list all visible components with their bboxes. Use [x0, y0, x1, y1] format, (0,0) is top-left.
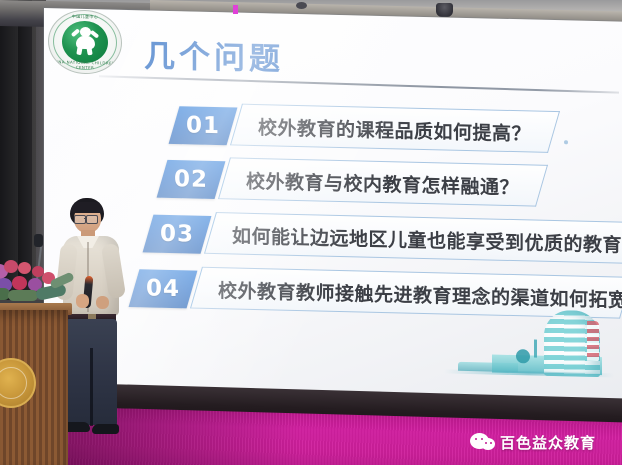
building-antenna-icon: [534, 340, 537, 358]
flower: [18, 262, 31, 274]
title-divider: [99, 75, 619, 93]
wechat-icon: [470, 433, 494, 452]
presenter-shoe-right: [92, 424, 119, 434]
presenter-hand-right: [96, 296, 109, 309]
podium-microphone-icon: [34, 234, 43, 247]
question-number-badge: 02: [157, 160, 226, 199]
presenter-hair-fringe: [71, 202, 103, 213]
flower: [4, 260, 18, 273]
logo-ring-text-bottom: CHINA NATIONAL CHILDREN'S CENTER: [49, 59, 121, 71]
question-text: 校外教育的课程品质如何提高？: [258, 108, 531, 154]
watermark: 百色益众教育: [470, 432, 596, 453]
glasses-lens-left-icon: [74, 215, 86, 224]
question-number-label: 03: [148, 214, 206, 253]
flower-arrangement: [0, 258, 80, 316]
podium-emblem-inner-ring: [0, 367, 27, 399]
building-tower-accent-icon: [587, 321, 599, 361]
ceiling-light-icon: [296, 2, 307, 9]
glasses-lens-right-icon: [86, 215, 98, 224]
question-number-badge: 04: [129, 269, 198, 308]
question-text: 如何能让边远地区儿童也能享受到优质的教育服务: [232, 216, 622, 266]
page-title: 几个问题: [144, 30, 284, 78]
left-wall-shadow-stripe: [18, 0, 32, 300]
question-number-badge: 01: [169, 106, 238, 145]
organization-logo: 中国儿童中心 CHINA NATIONAL CHILDREN'S CENTER: [48, 9, 122, 75]
question-text: 校外教育与校内教育怎样融通？: [246, 162, 519, 208]
glasses-bridge: [84, 218, 87, 219]
watermark-text: 百色益众教育: [500, 432, 596, 453]
building-dome-icon: [516, 349, 530, 363]
question-number-label: 04: [134, 269, 192, 308]
flower: [12, 276, 27, 290]
question-number-label: 02: [162, 160, 220, 199]
foliage: [8, 290, 38, 301]
logo-leg-left: [76, 45, 82, 55]
image-artifact-pixel: [233, 5, 238, 14]
logo-arm-left: [71, 28, 80, 37]
logo-ring-text-top: 中国儿童中心: [49, 13, 121, 21]
question-number-badge: 03: [143, 215, 212, 254]
presenter-leg-seam: [90, 348, 93, 426]
slide-decoration-dot: [564, 140, 568, 144]
wechat-bubble-small: [481, 438, 495, 450]
screenshot-root: 几个问题 01 校外教育的课程品质如何提高？ 02 校外教育与校内教育怎样融通？…: [0, 0, 622, 465]
logo-child-figure-icon: [73, 27, 97, 56]
ceiling-speaker-icon: [436, 3, 453, 17]
question-number-label: 01: [174, 106, 232, 145]
